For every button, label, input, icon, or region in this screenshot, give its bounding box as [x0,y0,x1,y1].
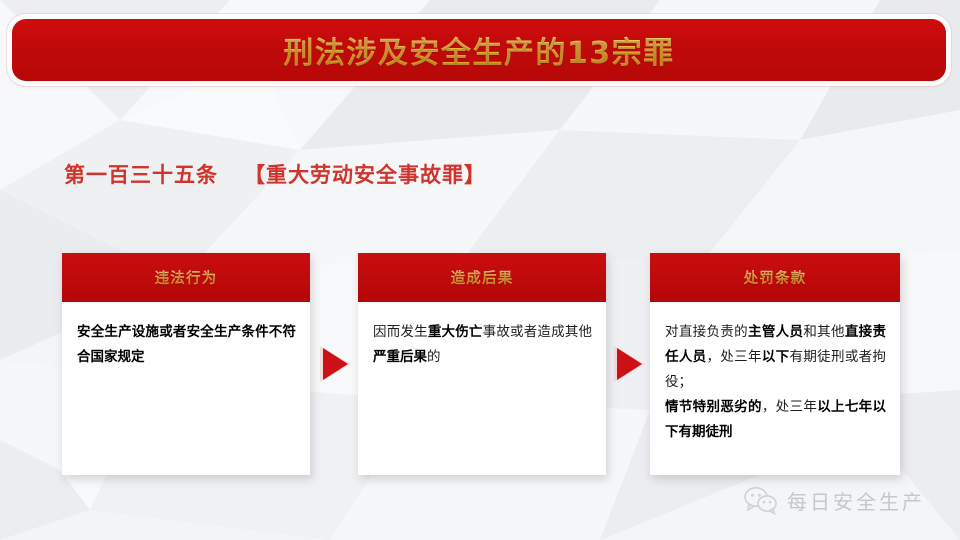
card-penalty-header-label: 处罚条款 [744,267,807,288]
watermark: 每日安全生产 [744,486,925,515]
card-violation-header: 违法行为 [62,253,310,302]
card-penalty-body: 对直接负责的主管人员和其他直接责任人员，处三年以下有期徒刑或者拘役；情节特别恶劣… [650,302,900,455]
card-violation-header-label: 违法行为 [155,267,218,288]
page-title: 刑法涉及安全生产的13宗罪 [283,28,674,72]
arrow-right-icon-1 [318,345,352,383]
article-number: 第一百三十五条 [64,163,218,187]
wechat-icon [744,486,778,515]
slide-canvas: 刑法涉及安全生产的13宗罪 第一百三十五条【重大劳动安全事故罪】 违法行为 安全… [0,0,960,540]
watermark-label: 每日安全生产 [787,486,925,515]
card-row: 违法行为 安全生产设施或者安全生产条件不符合国家规定 造成后果 因而发生重大伤亡… [0,253,960,477]
card-violation: 违法行为 安全生产设施或者安全生产条件不符合国家规定 [62,253,310,475]
card-penalty-header: 处罚条款 [650,253,900,302]
article-name: 【重大劳动安全事故罪】 [244,163,486,187]
card-consequence-body: 因而发生重大伤亡事故或者造成其他严重后果的 [358,302,606,380]
card-consequence: 造成后果 因而发生重大伤亡事故或者造成其他严重后果的 [358,253,606,475]
arrow-right-icon-2 [612,345,646,383]
card-consequence-header-label: 造成后果 [451,267,514,288]
card-penalty: 处罚条款 对直接负责的主管人员和其他直接责任人员，处三年以下有期徒刑或者拘役；情… [650,253,900,475]
card-violation-body: 安全生产设施或者安全生产条件不符合国家规定 [62,302,310,380]
slide-title-bar: 刑法涉及安全生产的13宗罪 [12,19,946,81]
card-consequence-header: 造成后果 [358,253,606,302]
article-heading: 第一百三十五条【重大劳动安全事故罪】 [64,159,486,189]
